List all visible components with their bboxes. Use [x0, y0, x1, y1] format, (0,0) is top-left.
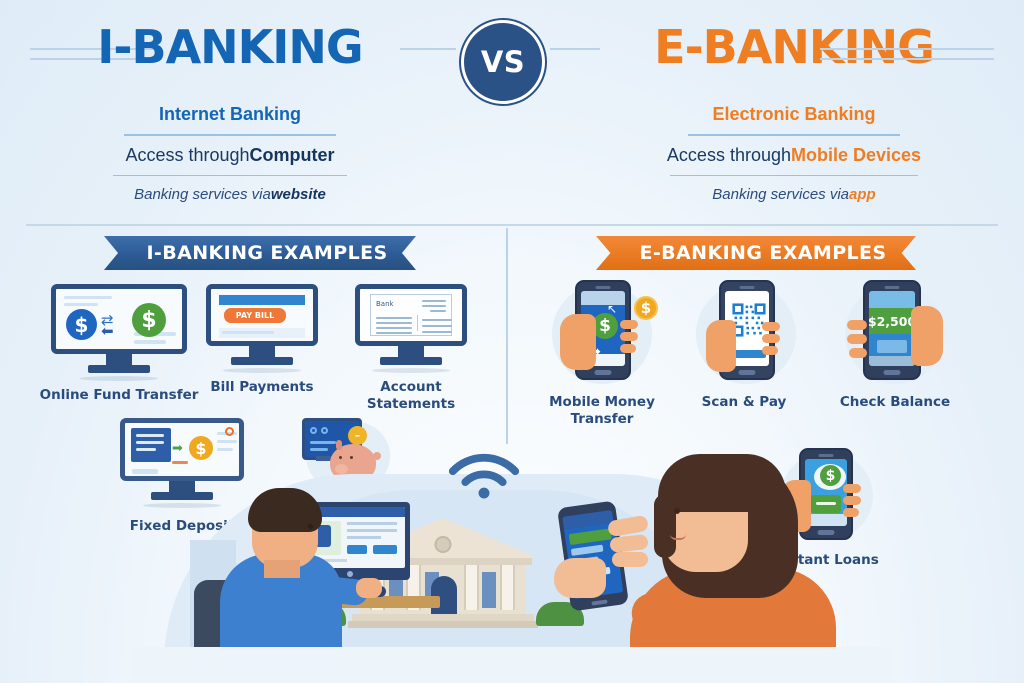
hand-holding-phone-icon: $ ↖ ➡ $ — [542, 280, 662, 388]
section-divider-horizontal — [26, 224, 998, 226]
desktop-monitor-icon: PAY BILL — [206, 284, 318, 373]
subtitle-right-row2-prefix: Access through — [667, 145, 791, 166]
qr-code-phone-icon — [686, 280, 806, 388]
vs-badge: VS — [461, 20, 545, 104]
subtitle-left-row1: Internet Banking — [0, 104, 460, 134]
subtitle-right-row1: Electronic Banking — [564, 104, 1024, 134]
banner-i-banking-examples: I-BANKING EXAMPLES — [104, 236, 416, 270]
phone-balance-icon: $2,500 — [835, 280, 955, 388]
subtitle-left-row2: Access through Computer — [0, 136, 460, 175]
example-tile-bill-payments[interactable]: PAY BILL Bill Payments — [200, 284, 324, 396]
subtitle-right-row1-text: Electronic Banking — [712, 104, 875, 125]
desktop-monitor-icon: $ $ ⇄ ⬅ — [51, 284, 187, 381]
example-tile-scan-and-pay[interactable]: Scan & Pay — [686, 280, 802, 411]
pay-bill-button: PAY BILL — [224, 308, 286, 323]
subtitle-right-row2: Access through Mobile Devices — [564, 136, 1024, 175]
header-rule-left-inner — [400, 48, 456, 50]
subtitle-left-row1-text: Internet Banking — [159, 104, 301, 125]
page-title-left: I-BANKING — [0, 24, 460, 70]
statement-label: Bank — [376, 300, 394, 308]
example-caption: Check Balance — [832, 394, 958, 411]
bottom-illustration-scene — [130, 430, 894, 683]
example-caption: Scan & Pay — [686, 394, 802, 411]
infographic-canvas: I-BANKING VS E-BANKING Internet Banking … — [0, 0, 1024, 683]
subtitle-right-row3-prefix: Banking services via — [712, 186, 849, 203]
example-caption: Bill Payments — [200, 379, 324, 396]
balance-amount: $2,500 — [869, 308, 915, 334]
example-tile-check-balance[interactable]: $2,500 Check Balance — [832, 280, 958, 411]
subtitle-left-row3: Banking services via website — [0, 176, 460, 203]
page-title-right: E-BANKING — [564, 24, 1024, 70]
banner-e-banking-examples: E-BANKING EXAMPLES — [596, 236, 916, 270]
header-rule-far-right-2 — [820, 58, 994, 60]
header-rule-far-right — [820, 48, 994, 50]
wifi-icon — [445, 444, 523, 500]
subtitle-left-row2-prefix: Access through — [125, 145, 249, 166]
section-divider-vertical — [506, 228, 508, 444]
example-caption: Mobile Money Transfer — [542, 394, 662, 428]
example-tile-account-statements[interactable]: Bank — [346, 284, 476, 413]
subtitle-right-row3: Banking services via app — [564, 176, 1024, 203]
subtitle-left-row2-bold: Computer — [250, 145, 335, 166]
desktop-monitor-icon: Bank — [355, 284, 467, 373]
subtitle-column-right: Electronic Banking Access through Mobile… — [564, 104, 1024, 203]
example-tile-online-fund-transfer[interactable]: $ $ ⇄ ⬅ Online Fund Transfer — [36, 284, 202, 404]
subtitle-column-left: Internet Banking Access through Computer… — [0, 104, 460, 203]
subtitle-right-row2-bold: Mobile Devices — [791, 145, 921, 166]
subtitle-left-row3-prefix: Banking services via — [134, 186, 271, 203]
example-caption: Account Statements — [346, 379, 476, 413]
example-caption: Online Fund Transfer — [36, 387, 202, 404]
example-tile-mobile-money-transfer[interactable]: $ ↖ ➡ $ Mobile Money Transfer — [542, 280, 662, 428]
subtitle-right-row3-bold: app — [849, 186, 876, 203]
subtitle-left-row3-bold: website — [271, 186, 326, 203]
